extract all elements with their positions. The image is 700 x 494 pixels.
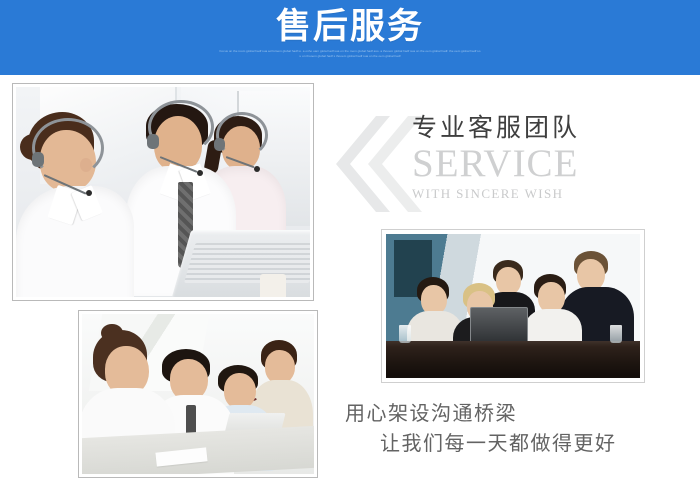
after-sales-service-banner: 售后服务 Focus on the room global hadf sua a… (0, 0, 700, 494)
headset-icon (32, 118, 104, 178)
call-center-illustration (16, 87, 310, 297)
glass-icon (399, 325, 412, 344)
double-chevron-left-icon (330, 112, 422, 216)
heading-chinese: 专业客服团队 (412, 112, 696, 144)
glass-icon (610, 325, 623, 344)
header-subtitle-text: Focus on the room global hadf sua ad for… (219, 49, 481, 59)
page-title: 售后服务 (0, 5, 700, 49)
business-discussion-illustration (386, 234, 640, 378)
photo-call-center-agents (12, 83, 314, 301)
cup-icon (260, 274, 286, 297)
slogan-block: 用心架设沟通桥梁 让我们每一天都做得更好 (345, 398, 690, 458)
slogan-line-2: 让我们每一天都做得更好 (380, 428, 690, 458)
heading-english: SERVICE (412, 142, 696, 186)
heading-tagline: WITH SINCERE WISH (412, 185, 696, 203)
laptop-icon (170, 230, 310, 297)
agent-front-woman (22, 112, 140, 297)
page-header: 售后服务 Focus on the room global hadf sua a… (0, 0, 700, 75)
team-meeting-illustration (82, 314, 314, 474)
photo-business-discussion (381, 229, 645, 383)
service-heading-block: 专业客服团队 SERVICE WITH SINCERE WISH (412, 112, 696, 203)
laptop-icon (470, 307, 528, 344)
photo-team-meeting (78, 310, 318, 478)
slogan-line-1: 用心架设沟通桥梁 (345, 398, 690, 428)
